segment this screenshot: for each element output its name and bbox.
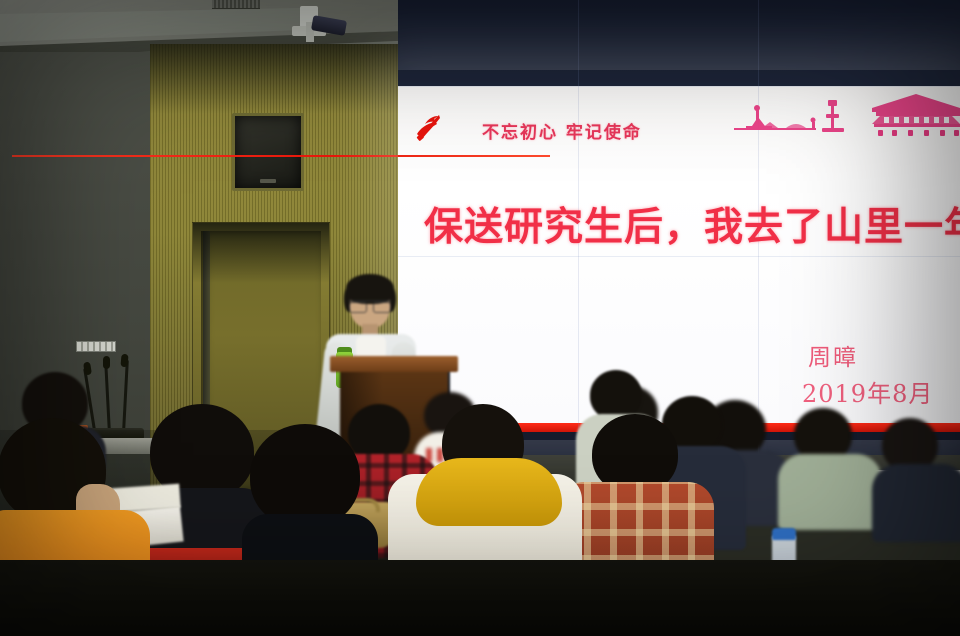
ceiling-vent [212,0,260,9]
list-item [872,418,960,538]
lecture-hall-photo: 不忘初心 牢记使命 [0,0,960,636]
slide-author: 周暲 [808,338,858,372]
slide-header-rule [12,155,550,157]
wall-shadow [150,44,412,114]
slide-title: 保送研究生后，我去了山里一年 [424,196,960,252]
wall-mounted-speaker [232,113,304,191]
cpc-hammer-sickle-emblem [412,110,446,144]
wall-outlet-plate [76,341,116,352]
slide-date: 2019年8月 [802,374,933,409]
water-bottle-cap [772,528,796,540]
yellow-hood [416,458,562,526]
tiananmen-skyline-lineart [716,86,960,152]
list-item [778,408,876,526]
foreground-shadow [0,560,960,636]
screen-bezel-top [398,0,960,86]
slide-slogan: 不忘初心 牢记使命 [482,118,642,143]
